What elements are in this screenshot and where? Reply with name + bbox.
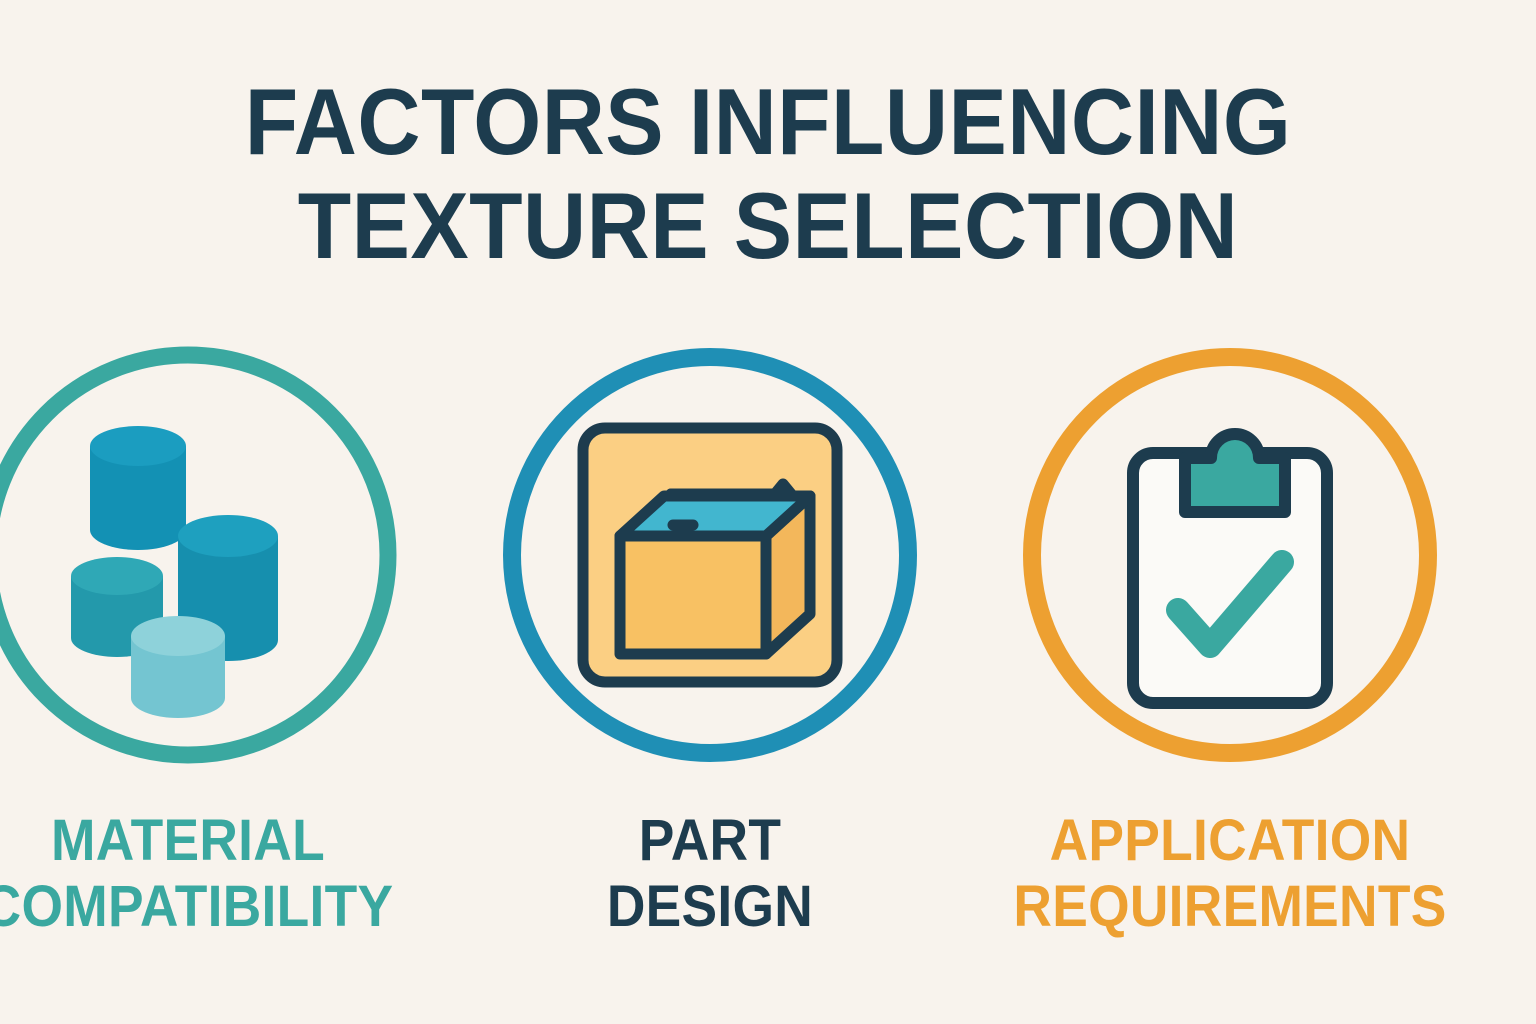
label-line-2: REQUIREMENTS — [991, 874, 1469, 940]
factor-card-part-design[interactable]: PART DESIGN — [450, 340, 970, 980]
infographic-canvas: FACTORS INFLUENCING TEXTURE SELECTION — [0, 0, 1536, 1024]
label-line-1: MATERIAL — [0, 808, 427, 874]
page-title: FACTORS INFLUENCING TEXTURE SELECTION — [0, 70, 1536, 278]
cylinder-back-left — [90, 426, 186, 550]
box-3d — [620, 496, 810, 654]
clipboard-check-icon — [1015, 340, 1445, 770]
label-line-1: APPLICATION — [991, 808, 1469, 874]
label-line-2: DESIGN — [471, 874, 949, 940]
ring-application-requirements — [1015, 340, 1445, 770]
factor-label-material-compatibility: MATERIAL COMPATIBILITY — [0, 808, 427, 940]
clipboard-clip — [1185, 434, 1285, 512]
ring-material-compatibility — [0, 340, 403, 770]
cylinders-icon — [0, 340, 403, 770]
title-line-1: FACTORS INFLUENCING — [54, 70, 1482, 174]
label-line-2: COMPATIBILITY — [0, 874, 427, 940]
ring-part-design — [495, 340, 925, 770]
factor-label-part-design: PART DESIGN — [471, 808, 949, 940]
cylinder-front-light — [131, 616, 225, 718]
label-line-1: PART — [471, 808, 949, 874]
factor-columns: MATERIAL COMPATIBILITY — [0, 340, 1536, 980]
factor-card-application-requirements[interactable]: APPLICATION REQUIREMENTS — [970, 340, 1490, 980]
factor-label-application-requirements: APPLICATION REQUIREMENTS — [991, 808, 1469, 940]
factor-card-material-compatibility[interactable]: MATERIAL COMPATIBILITY — [0, 340, 448, 980]
dimensioned-box-icon — [495, 340, 925, 770]
title-line-2: TEXTURE SELECTION — [54, 174, 1482, 278]
